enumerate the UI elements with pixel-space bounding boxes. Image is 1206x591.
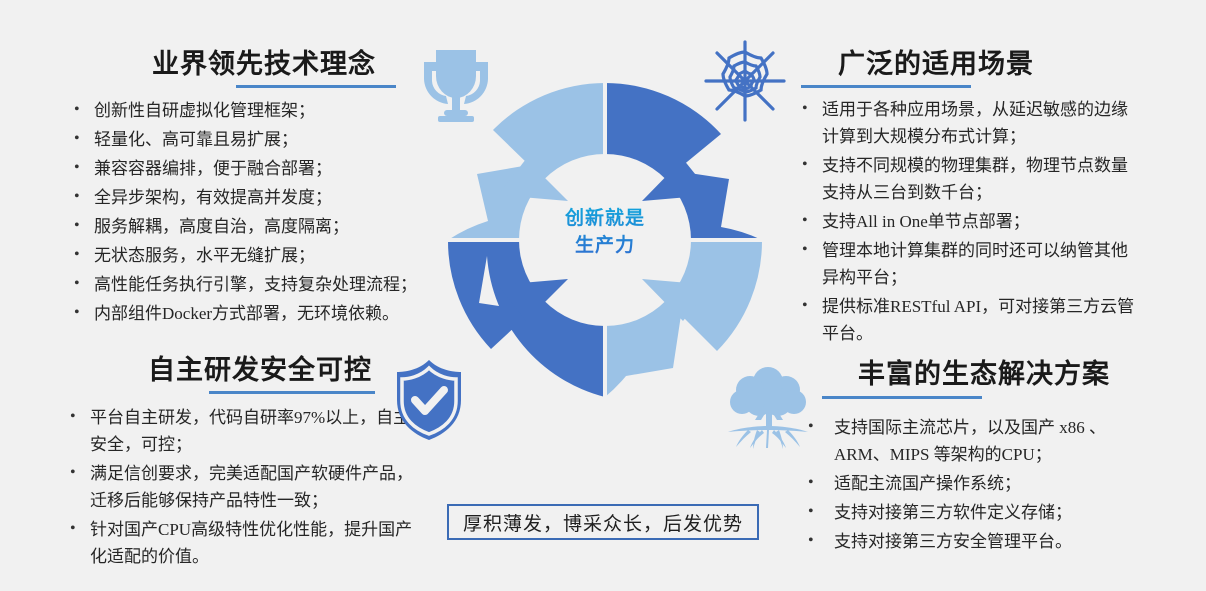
list-item: 支持对接第三方软件定义存储； bbox=[800, 499, 1140, 526]
bullet-list-bottom-right: 支持国际主流芯片，以及国产 x86 、ARM、MIPS 等架构的CPU； 适配主… bbox=[800, 414, 1140, 557]
bullet-text: 无状态服务，水平无缝扩展； bbox=[94, 246, 315, 265]
list-item: 服务解耦，高度自治，高度隔离； bbox=[72, 213, 462, 240]
bullet-list-top-right: 适用于各种应用场景，从延迟敏感的边缘计算到大规模分布式计算； 支持不同规模的物理… bbox=[800, 96, 1140, 349]
bullet-text: 提供标准RESTful API，可对接第三方云管平台。 bbox=[822, 297, 1134, 343]
list-item: 轻量化、高可靠且易扩展； bbox=[72, 126, 462, 153]
list-item: 满足信创要求，完美适配国产软硬件产品，迁移后能够保持产品特性一致； bbox=[68, 460, 428, 514]
heading-rule-top-left bbox=[236, 85, 396, 88]
list-item: 适配主流国产操作系统； bbox=[800, 470, 1140, 497]
bullet-text: 满足信创要求，完美适配国产软硬件产品，迁移后能够保持产品特性一致； bbox=[90, 464, 413, 510]
list-item: 平台自主研发，代码自研率97%以上，自主，安全，可控； bbox=[68, 404, 428, 458]
donut-center-label: 创新就是 生产力 bbox=[440, 205, 770, 259]
heading-rule-bottom-left bbox=[209, 391, 375, 394]
donut-gap-bottom bbox=[603, 315, 607, 405]
bullet-list-top-left: 创新性自研虚拟化管理框架； 轻量化、高可靠且易扩展； 兼容容器编排，便于融合部署… bbox=[72, 97, 462, 329]
list-item: 兼容容器编排，便于融合部署； bbox=[72, 155, 462, 182]
list-item: 提供标准RESTful API，可对接第三方云管平台。 bbox=[800, 293, 1140, 347]
heading-bottom-right: 丰富的生态解决方案 bbox=[858, 352, 1110, 391]
list-item: 管理本地计算集群的同时还可以纳管其他异构平台； bbox=[800, 237, 1140, 291]
center-line-1: 创新就是 bbox=[440, 205, 770, 232]
list-item: 支持国际主流芯片，以及国产 x86 、ARM、MIPS 等架构的CPU； bbox=[800, 414, 1140, 468]
list-item: 支持All in One单节点部署； bbox=[800, 208, 1140, 235]
bullet-text: 创新性自研虚拟化管理框架； bbox=[94, 101, 315, 120]
bullet-text: 管理本地计算集群的同时还可以纳管其他异构平台； bbox=[822, 241, 1128, 287]
list-item: 创新性自研虚拟化管理框架； bbox=[72, 97, 462, 124]
bullet-text: 适用于各种应用场景，从延迟敏感的边缘计算到大规模分布式计算； bbox=[822, 100, 1128, 146]
tagline-banner: 厚积薄发，博采众长，后发优势 bbox=[447, 504, 759, 540]
list-item: 高性能任务执行引擎，支持复杂处理流程； bbox=[72, 271, 462, 298]
bullet-text: 内部组件Docker方式部署，无环境依赖。 bbox=[94, 304, 399, 323]
bullet-text: 支持对接第三方安全管理平台。 bbox=[834, 532, 1072, 551]
bullet-list-bottom-left: 平台自主研发，代码自研率97%以上，自主，安全，可控； 满足信创要求，完美适配国… bbox=[68, 404, 428, 572]
list-item: 无状态服务，水平无缝扩展； bbox=[72, 242, 462, 269]
list-item: 针对国产CPU高级特性优化性能，提升国产化适配的价值。 bbox=[68, 516, 428, 570]
list-item: 适用于各种应用场景，从延迟敏感的边缘计算到大规模分布式计算； bbox=[800, 96, 1140, 150]
donut-chart: 创新就是 生产力 bbox=[440, 75, 770, 405]
bullet-text: 适配主流国产操作系统； bbox=[834, 474, 1021, 493]
bullet-text: 服务解耦，高度自治，高度隔离； bbox=[94, 217, 349, 236]
heading-rule-bottom-right bbox=[822, 396, 982, 399]
bullet-text: 针对国产CPU高级特性优化性能，提升国产化适配的价值。 bbox=[90, 520, 412, 566]
heading-bottom-left: 自主研发安全可控 bbox=[148, 348, 372, 387]
list-item: 全异步架构，有效提高并发度； bbox=[72, 184, 462, 211]
list-item: 内部组件Docker方式部署，无环境依赖。 bbox=[72, 300, 462, 327]
heading-top-right: 广泛的适用场景 bbox=[838, 42, 1034, 81]
list-item: 支持不同规模的物理集群，物理节点数量支持从三台到数千台； bbox=[800, 152, 1140, 206]
slide-canvas: 业界领先技术理念 创新性自研虚拟化管理框架； 轻量化、高可靠且易扩展； 兼容容器… bbox=[0, 0, 1206, 591]
donut-gap-top bbox=[603, 75, 607, 165]
bullet-text: 兼容容器编排，便于融合部署； bbox=[94, 159, 332, 178]
heading-top-left: 业界领先技术理念 bbox=[152, 42, 376, 81]
bullet-text: 支持国际主流芯片，以及国产 x86 、ARM、MIPS 等架构的CPU； bbox=[834, 418, 1106, 464]
tagline-text: 厚积薄发，博采众长，后发优势 bbox=[463, 509, 743, 536]
bullet-text: 支持All in One单节点部署； bbox=[822, 212, 1030, 231]
center-line-2: 生产力 bbox=[440, 232, 770, 259]
bullet-text: 支持不同规模的物理集群，物理节点数量支持从三台到数千台； bbox=[822, 156, 1128, 202]
heading-rule-top-right bbox=[801, 85, 971, 88]
bullet-text: 平台自主研发，代码自研率97%以上，自主，安全，可控； bbox=[90, 408, 427, 454]
bullet-text: 高性能任务执行引擎，支持复杂处理流程； bbox=[94, 275, 417, 294]
bullet-text: 轻量化、高可靠且易扩展； bbox=[94, 130, 298, 149]
bullet-text: 支持对接第三方软件定义存储； bbox=[834, 503, 1072, 522]
bullet-text: 全异步架构，有效提高并发度； bbox=[94, 188, 332, 207]
list-item: 支持对接第三方安全管理平台。 bbox=[800, 528, 1140, 555]
